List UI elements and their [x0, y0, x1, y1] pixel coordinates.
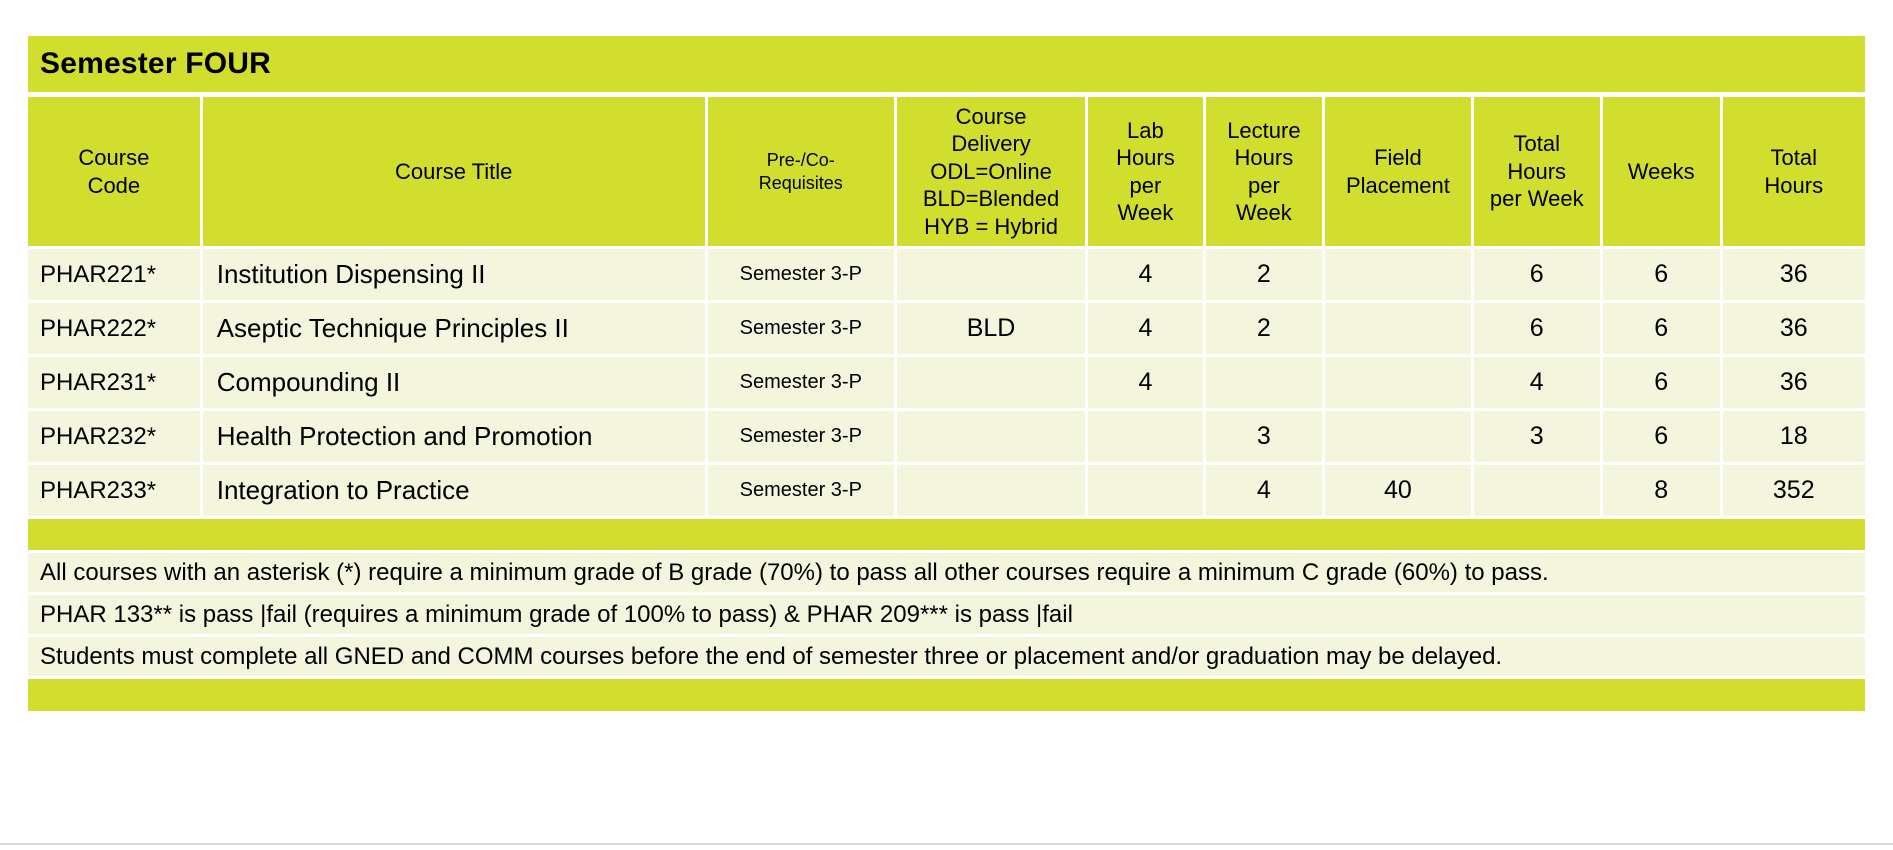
header-line: Lab	[1127, 118, 1164, 143]
cell-prerequisites: Semester 3-P	[708, 303, 897, 357]
table-row: PHAR233*Integration to PracticeSemester …	[28, 465, 1865, 519]
header-lab-hours-per-week: Lab Hours per Week	[1088, 97, 1205, 249]
cell-course-title: Institution Dispensing II	[203, 249, 708, 303]
header-line: HYB = Hybrid	[924, 214, 1058, 239]
page-bottom-rule	[0, 843, 1893, 845]
table-row: PHAR232*Health Protection and PromotionS…	[28, 411, 1865, 465]
cell-total-hours: 352	[1723, 465, 1865, 519]
cell-lab-hours	[1088, 465, 1205, 519]
cell-prerequisites: Semester 3-P	[708, 357, 897, 411]
header-course-delivery: Course Delivery ODL=Online BLD=Blended H…	[897, 97, 1088, 249]
cell-course-delivery: BLD	[897, 303, 1088, 357]
header-course-title: Course Title	[203, 97, 708, 249]
cell-lab-hours: 4	[1088, 249, 1205, 303]
table-row: PHAR221*Institution Dispensing IISemeste…	[28, 249, 1865, 303]
cell-course-delivery	[897, 357, 1088, 411]
note-row: PHAR 133** is pass |fail (requires a min…	[28, 595, 1865, 637]
cell-lecture-hours: 3	[1206, 411, 1326, 465]
note-text: Students must complete all GNED and COMM…	[40, 643, 1502, 671]
cell-course-code: PHAR233*	[28, 465, 203, 519]
cell-total-hours-per-week: 4	[1474, 357, 1603, 411]
course-table: Course Code Course Title Pre-/Co- Requis…	[28, 97, 1865, 519]
cell-total-hours: 36	[1723, 249, 1865, 303]
note-row: All courses with an asterisk (*) require…	[28, 553, 1865, 595]
cell-total-hours-per-week: 6	[1474, 249, 1603, 303]
cell-course-code: PHAR231*	[28, 357, 203, 411]
bottom-green-bar	[28, 679, 1865, 711]
cell-course-delivery	[897, 249, 1088, 303]
table-row: PHAR231*Compounding IISemester 3-P44636	[28, 357, 1865, 411]
table-row: PHAR222*Aseptic Technique Principles IIS…	[28, 303, 1865, 357]
cell-prerequisites: Semester 3-P	[708, 465, 897, 519]
header-course-code: Course Code	[28, 97, 203, 249]
cell-field-placement	[1325, 249, 1473, 303]
header-total-hours: Total Hours	[1723, 97, 1865, 249]
course-table-head: Course Code Course Title Pre-/Co- Requis…	[28, 97, 1865, 249]
header-line: Weeks	[1628, 159, 1695, 184]
header-line: per	[1248, 173, 1280, 198]
header-line: Week	[1117, 200, 1173, 225]
header-line: BLD=Blended	[923, 186, 1059, 211]
cell-prerequisites: Semester 3-P	[708, 411, 897, 465]
header-line: per	[1130, 173, 1162, 198]
cell-course-code: PHAR222*	[28, 303, 203, 357]
header-line: Placement	[1346, 173, 1450, 198]
cell-course-title: Integration to Practice	[203, 465, 708, 519]
cell-lab-hours: 4	[1088, 357, 1205, 411]
note-text: All courses with an asterisk (*) require…	[40, 559, 1549, 587]
header-line: Code	[88, 173, 141, 198]
cell-course-title: Compounding II	[203, 357, 708, 411]
header-lecture-hours-per-week: Lecture Hours per Week	[1206, 97, 1326, 249]
header-line: Total	[1771, 145, 1817, 170]
header-prerequisites: Pre-/Co- Requisites	[708, 97, 897, 249]
cell-field-placement	[1325, 303, 1473, 357]
cell-course-title: Aseptic Technique Principles II	[203, 303, 708, 357]
header-line: Field	[1374, 145, 1422, 170]
cell-lecture-hours: 4	[1206, 465, 1326, 519]
cell-weeks: 6	[1603, 357, 1723, 411]
cell-weeks: 6	[1603, 303, 1723, 357]
cell-lab-hours	[1088, 411, 1205, 465]
header-line: Hours	[1507, 159, 1566, 184]
header-weeks: Weeks	[1603, 97, 1723, 249]
cell-prerequisites: Semester 3-P	[708, 249, 897, 303]
page-title: Semester FOUR	[40, 47, 271, 81]
cell-field-placement	[1325, 357, 1473, 411]
header-row: Course Code Course Title Pre-/Co- Requis…	[28, 97, 1865, 249]
cell-course-delivery	[897, 465, 1088, 519]
cell-total-hours-per-week: 6	[1474, 303, 1603, 357]
cell-course-code: PHAR221*	[28, 249, 203, 303]
semester-four-table-sheet: Semester FOUR Course Code	[28, 36, 1865, 817]
semester-title-band: Semester FOUR	[28, 36, 1865, 92]
cell-lecture-hours: 2	[1206, 249, 1326, 303]
cell-field-placement	[1325, 411, 1473, 465]
header-line: Hours	[1116, 145, 1175, 170]
cell-total-hours: 36	[1723, 357, 1865, 411]
cell-course-title: Health Protection and Promotion	[203, 411, 708, 465]
header-line: Course Title	[395, 159, 512, 184]
cell-lecture-hours	[1206, 357, 1326, 411]
cell-lecture-hours: 2	[1206, 303, 1326, 357]
table-footer-green-bar	[28, 519, 1865, 553]
header-line: Delivery	[951, 131, 1030, 156]
note-row: Students must complete all GNED and COMM…	[28, 637, 1865, 679]
header-line: Week	[1236, 200, 1292, 225]
cell-total-hours-per-week	[1474, 465, 1603, 519]
header-line: Lecture	[1227, 118, 1300, 143]
header-field-placement: Field Placement	[1325, 97, 1473, 249]
header-line: Pre-/Co-	[767, 150, 835, 170]
cell-weeks: 6	[1603, 411, 1723, 465]
cell-course-delivery	[897, 411, 1088, 465]
course-table-body: PHAR221*Institution Dispensing IISemeste…	[28, 249, 1865, 519]
header-line: Hours	[1764, 173, 1823, 198]
cell-total-hours: 18	[1723, 411, 1865, 465]
header-line: Requisites	[759, 173, 843, 193]
note-text: PHAR 133** is pass |fail (requires a min…	[40, 601, 1073, 629]
header-line: ODL=Online	[930, 159, 1052, 184]
cell-weeks: 8	[1603, 465, 1723, 519]
header-line: per Week	[1490, 186, 1584, 211]
document-page: Semester FOUR Course Code	[0, 0, 1893, 850]
cell-total-hours-per-week: 3	[1474, 411, 1603, 465]
header-total-hours-per-week: Total Hours per Week	[1474, 97, 1603, 249]
header-line: Hours	[1235, 145, 1294, 170]
cell-lab-hours: 4	[1088, 303, 1205, 357]
header-line: Total	[1513, 131, 1559, 156]
cell-total-hours: 36	[1723, 303, 1865, 357]
cell-weeks: 6	[1603, 249, 1723, 303]
header-line: Course	[956, 104, 1027, 129]
cell-field-placement: 40	[1325, 465, 1473, 519]
header-line: Course	[78, 145, 149, 170]
cell-course-code: PHAR232*	[28, 411, 203, 465]
